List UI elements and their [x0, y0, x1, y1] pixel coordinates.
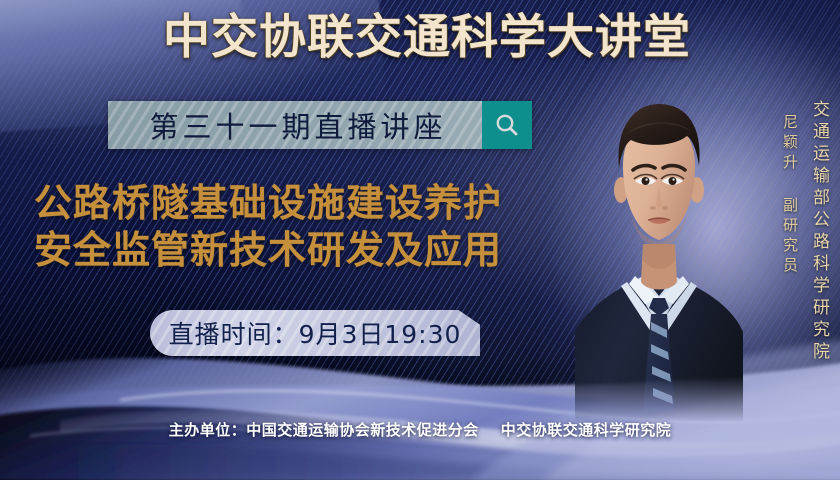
organizer-name-2: 中交协联交通科学研究院: [501, 421, 672, 439]
lecture-topic-line-2: 安全监管新技术研发及应用: [34, 227, 502, 274]
search-icon: [494, 112, 520, 138]
organizer-label: 主办单位：: [169, 421, 247, 439]
lecture-topic-line-1: 公路桥隧基础设施建设养护: [34, 180, 502, 227]
organizer-name-1: 中国交通运输协会新技术促进分会: [246, 421, 479, 439]
live-lecture-poster: 中交协联交通科学大讲堂 第三十一期直播讲座 公路桥隧基础设施建设养护 安全监管新…: [0, 0, 840, 480]
broadcast-time-label: 直播时间：9月3日19:30: [169, 315, 462, 351]
footer-organizers: 主办单位：中国交通运输协会新技术促进分会中交协联交通科学研究院: [0, 419, 840, 440]
episode-label: 第三十一期直播讲座: [143, 104, 446, 146]
page-title: 中交协联交通科学大讲堂: [0, 14, 840, 61]
episode-banner: 第三十一期直播讲座: [108, 101, 532, 149]
search-button[interactable]: [482, 101, 532, 149]
speaker-name-title: 尼颖升 副研究员: [780, 114, 801, 277]
episode-banner-fill: 第三十一期直播讲座: [108, 101, 482, 149]
lecture-topic: 公路桥隧基础设施建设养护 安全监管新技术研发及应用: [34, 180, 502, 273]
speaker-organization: 交通运输部公路科学研究院: [807, 100, 832, 364]
speaker-info: 尼颖升 副研究员 交通运输部公路科学研究院: [780, 100, 832, 364]
speaker-portrait: [571, 82, 747, 422]
broadcast-time-badge: 直播时间：9月3日19:30: [150, 310, 480, 356]
